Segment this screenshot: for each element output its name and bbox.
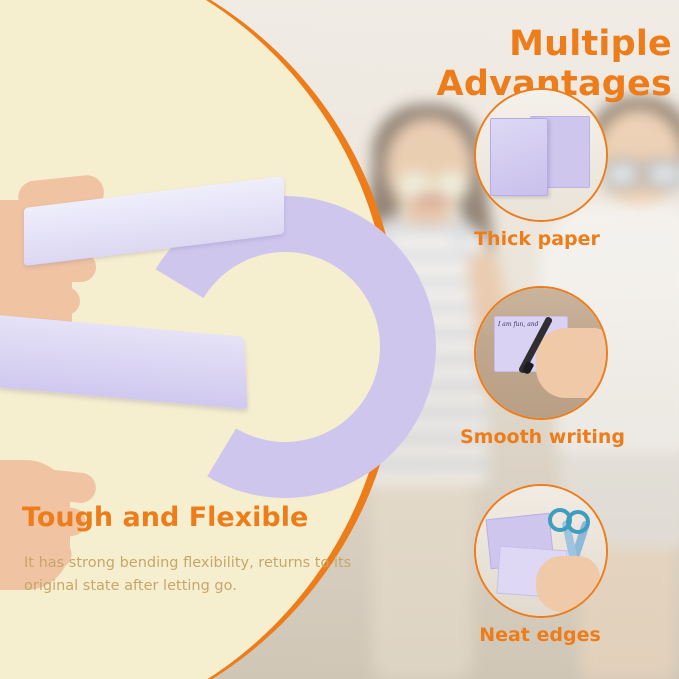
girl-legs <box>372 470 472 679</box>
writing-hand <box>536 328 608 398</box>
hand-bending-paper-illustration <box>0 160 322 430</box>
scissors-ring-2 <box>548 508 572 532</box>
bent-paper-sheet <box>14 180 314 420</box>
feature-smooth-writing-label: Smooth writing <box>460 426 625 448</box>
left-body-text: It has strong bending flexibility, retur… <box>24 552 354 598</box>
feature-neat-edges-image <box>474 484 608 618</box>
feature-neat-edges-label: Neat edges <box>472 624 608 646</box>
feature-smooth-writing-image: I am fun, and <box>474 286 608 420</box>
left-title: Tough and Flexible <box>22 502 342 533</box>
feature-thick-paper: Thick paper <box>474 88 608 250</box>
feature-thick-paper-image <box>474 88 608 222</box>
boy-glasses-right <box>646 160 679 188</box>
feature-smooth-writing: I am fun, and Smooth writing <box>474 286 625 448</box>
cutting-hand <box>536 556 600 612</box>
feature-neat-edges: Neat edges <box>474 484 608 646</box>
girl-sunglasses-bridge <box>426 180 436 184</box>
boy-head <box>596 110 679 206</box>
feature-thick-paper-label: Thick paper <box>466 228 608 250</box>
headline: Multiple Advantages <box>272 24 672 104</box>
boy-glasses-left <box>604 160 640 188</box>
paper-stack-front-sheet <box>490 118 548 196</box>
product-feature-banner: Multiple Advantages Tough and Flexible I… <box>0 0 679 679</box>
